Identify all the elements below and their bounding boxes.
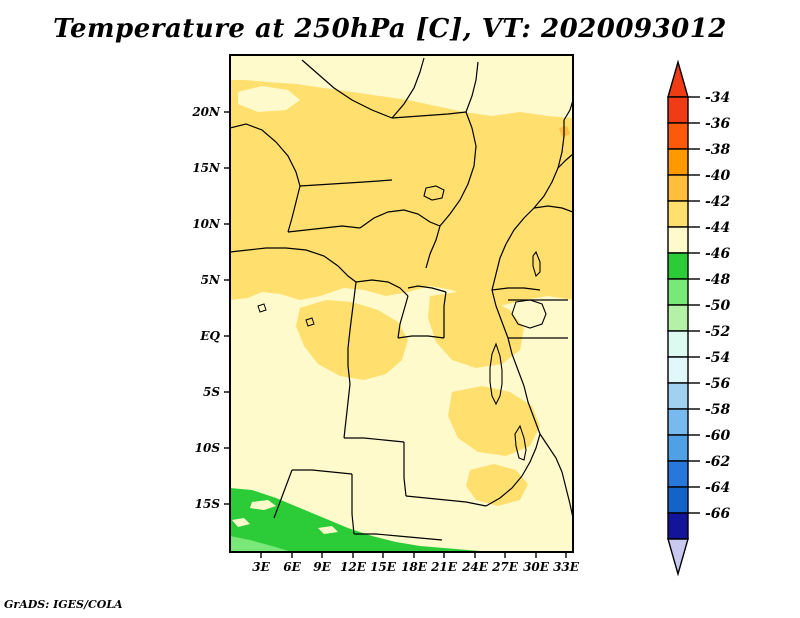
colorbar-label: -54 <box>705 350 730 366</box>
colorbar-label: -52 <box>705 324 731 340</box>
y-axis: 20N 15N 10N 5N EQ 5S 10S 15S <box>191 105 230 511</box>
x-tick-3E: 3E <box>252 552 270 574</box>
x-tick-label: 12E <box>340 560 367 574</box>
y-tick-EQ: EQ <box>199 329 230 343</box>
x-tick-9E: 9E <box>313 552 331 574</box>
colorbar-labels: -34 -36 -38 -40 -42 -44 -46 -48 -50 -52 … <box>705 90 731 522</box>
x-tick-label: 18E <box>401 560 428 574</box>
colorbar-swatch <box>668 123 688 149</box>
x-tick-12E: 12E <box>340 552 367 574</box>
colorbar-label: -34 <box>705 90 730 106</box>
y-tick-15S: 15S <box>195 497 230 511</box>
colorbar-label: -48 <box>705 272 731 288</box>
x-tick-label: 3E <box>252 560 270 574</box>
x-tick-label: 21E <box>430 560 458 574</box>
x-tick-15E: 15E <box>370 552 397 574</box>
colorbar-swatch <box>668 331 688 357</box>
x-axis: 3E 6E 9E 12E 15E 18E 21E 24E <box>252 552 580 574</box>
x-tick-6E: 6E <box>283 552 301 574</box>
colorbar-label: -36 <box>705 116 731 132</box>
x-tick-label: 27E <box>491 560 519 574</box>
colorbar-swatch <box>668 279 688 305</box>
colorbar-label: -38 <box>705 142 731 158</box>
x-tick-33E: 33E <box>553 552 580 574</box>
x-tick-21E: 21E <box>430 552 458 574</box>
colorbar-ticks <box>688 97 700 513</box>
y-tick-label: 10N <box>192 217 221 231</box>
x-tick-27E: 27E <box>491 552 519 574</box>
colorbar-label: -58 <box>705 402 731 418</box>
colorbar-swatch <box>668 149 688 175</box>
colorbar-swatch <box>668 383 688 409</box>
colorbar-label: -64 <box>705 480 730 496</box>
colorbar-swatch <box>668 201 688 227</box>
y-tick-label: 10S <box>195 441 221 455</box>
x-tick-30E: 30E <box>523 552 550 574</box>
y-tick-5S: 5S <box>203 385 230 399</box>
map-panel <box>230 55 573 552</box>
colorbar-swatch <box>668 513 688 539</box>
colorbar-swatch <box>668 227 688 253</box>
colorbar-label: -50 <box>705 298 731 314</box>
y-tick-10S: 10S <box>195 441 230 455</box>
colorbar-label: -60 <box>705 428 731 444</box>
x-tick-18E: 18E <box>401 552 428 574</box>
colorbar-swatch <box>668 253 688 279</box>
y-tick-label: 5S <box>203 385 220 399</box>
colorbar-swatch <box>668 409 688 435</box>
colorbar-label: -42 <box>705 194 731 210</box>
colorbar-swatch <box>668 175 688 201</box>
y-tick-15N: 15N <box>192 161 230 175</box>
x-tick-label: 15E <box>370 560 397 574</box>
colorbar-label: -66 <box>705 506 731 522</box>
colorbar-swatch <box>668 487 688 513</box>
colorbar-swatch <box>668 357 688 383</box>
colorbar-label: -46 <box>705 246 731 262</box>
colorbar-label: -40 <box>705 168 731 184</box>
x-tick-label: 9E <box>313 560 331 574</box>
y-tick-label: 15N <box>192 161 221 175</box>
colorbar-under-arrow <box>668 539 688 574</box>
y-tick-label: 5N <box>201 273 221 287</box>
colorbar-swatch <box>668 305 688 331</box>
y-tick-label: 15S <box>195 497 221 511</box>
x-tick-label: 24E <box>461 560 489 574</box>
y-tick-10N: 10N <box>192 217 230 231</box>
x-tick-label: 6E <box>283 560 301 574</box>
x-tick-label: 30E <box>523 560 550 574</box>
x-tick-label: 33E <box>553 560 580 574</box>
colorbar-label: -44 <box>705 220 730 236</box>
colorbar: -34 -36 -38 -40 -42 -44 -46 -48 -50 -52 … <box>668 62 731 574</box>
colorbar-label: -62 <box>705 454 731 470</box>
colorbar-swatch <box>668 97 688 123</box>
x-tick-24E: 24E <box>461 552 489 574</box>
y-tick-5N: 5N <box>201 273 230 287</box>
y-tick-label: 20N <box>191 105 221 119</box>
temperature-map-figure: 20N 15N 10N 5N EQ 5S 10S 15S <box>0 0 800 618</box>
colorbar-swatch <box>668 461 688 487</box>
y-tick-label: EQ <box>199 329 220 343</box>
colorbar-label: -56 <box>705 376 731 392</box>
credit-text: GrADS: IGES/COLA <box>4 598 123 611</box>
colorbar-swatch <box>668 435 688 461</box>
colorbar-over-arrow <box>668 62 688 97</box>
y-tick-20N: 20N <box>191 105 230 119</box>
